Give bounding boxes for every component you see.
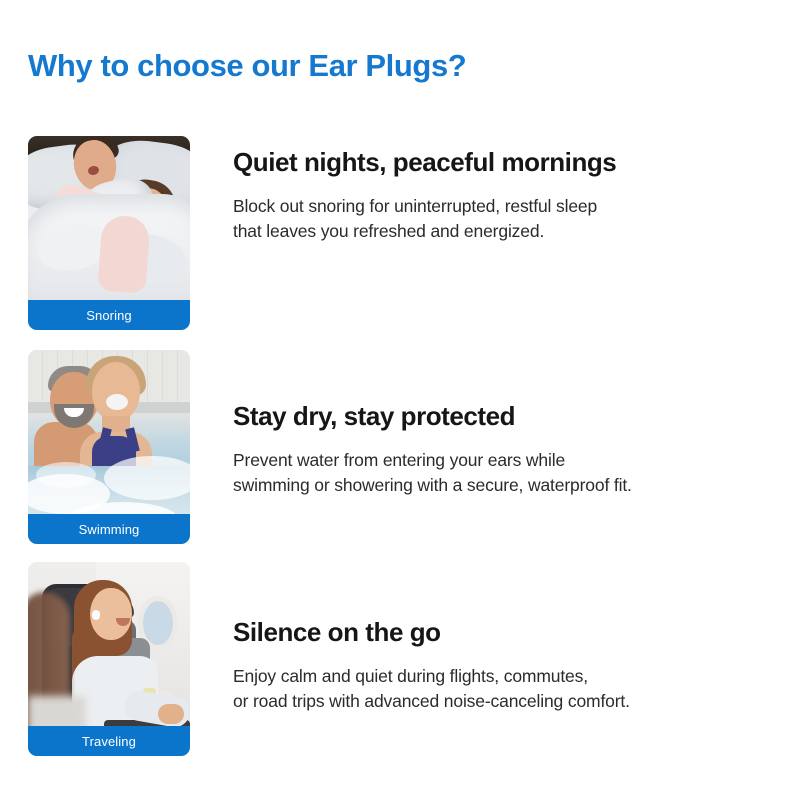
feature-heading: Stay dry, stay protected: [233, 402, 763, 432]
feature-description: Prevent water from entering your ears wh…: [233, 448, 763, 499]
feature-badge-traveling[interactable]: Traveling: [28, 726, 190, 756]
feature-badge-swimming[interactable]: Swimming: [28, 514, 190, 544]
feature-heading: Silence on the go: [233, 618, 763, 648]
feature-description: Block out snoring for uninterrupted, res…: [233, 194, 763, 245]
feature-text: Quiet nights, peaceful mornings Block ou…: [233, 148, 763, 245]
feature-card-snoring[interactable]: Snoring: [28, 136, 190, 330]
page-title: Why to choose our Ear Plugs?: [28, 48, 466, 84]
feature-card-traveling[interactable]: Traveling: [28, 562, 190, 756]
feature-list-page: Why to choose our Ear Plugs?: [0, 0, 800, 800]
feature-text: Silence on the go Enjoy calm and quiet d…: [233, 618, 763, 715]
feature-badge-snoring[interactable]: Snoring: [28, 300, 190, 330]
feature-description: Enjoy calm and quiet during flights, com…: [233, 664, 763, 715]
feature-text: Stay dry, stay protected Prevent water f…: [233, 402, 763, 499]
feature-card-swimming[interactable]: Swimming: [28, 350, 190, 544]
feature-heading: Quiet nights, peaceful mornings: [233, 148, 763, 178]
